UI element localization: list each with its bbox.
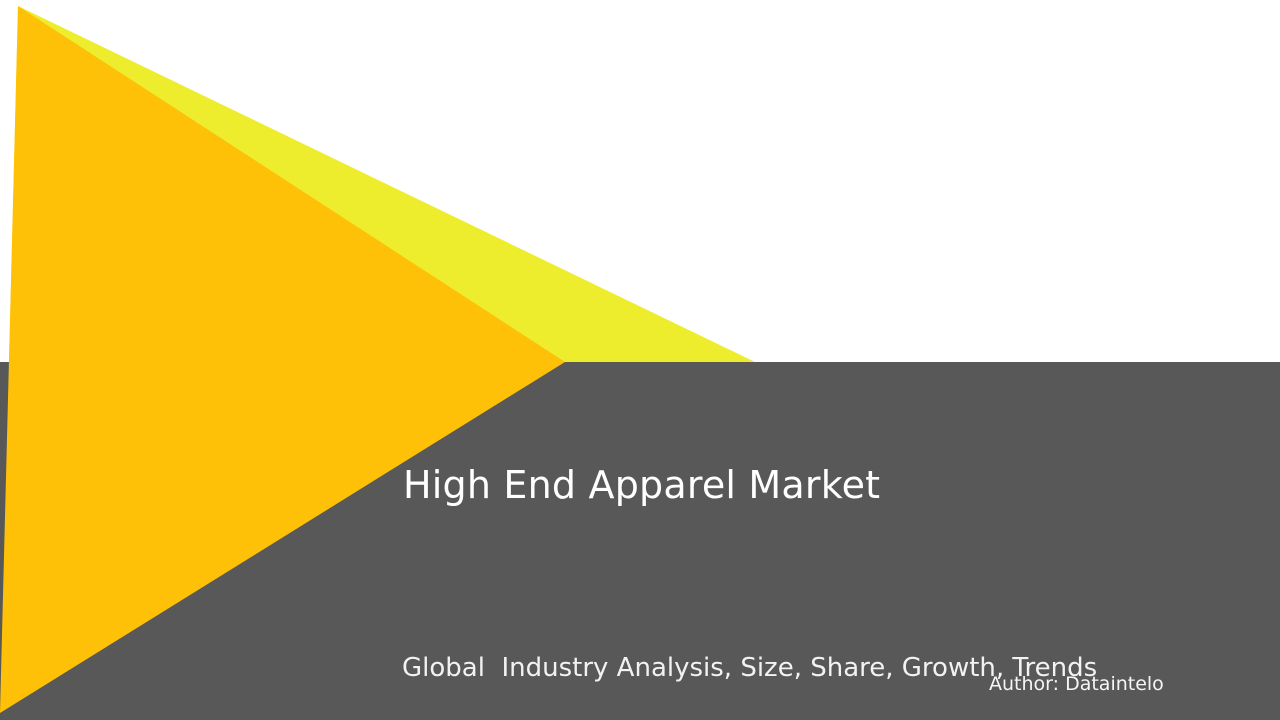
page-title: High End Apparel Market [403, 466, 880, 506]
cover-text-block: High End Apparel Market Global Industry … [0, 0, 1280, 720]
author-credit: Author: Dataintelo [989, 673, 1164, 696]
report-cover-page: High End Apparel Market Global Industry … [0, 0, 1280, 720]
